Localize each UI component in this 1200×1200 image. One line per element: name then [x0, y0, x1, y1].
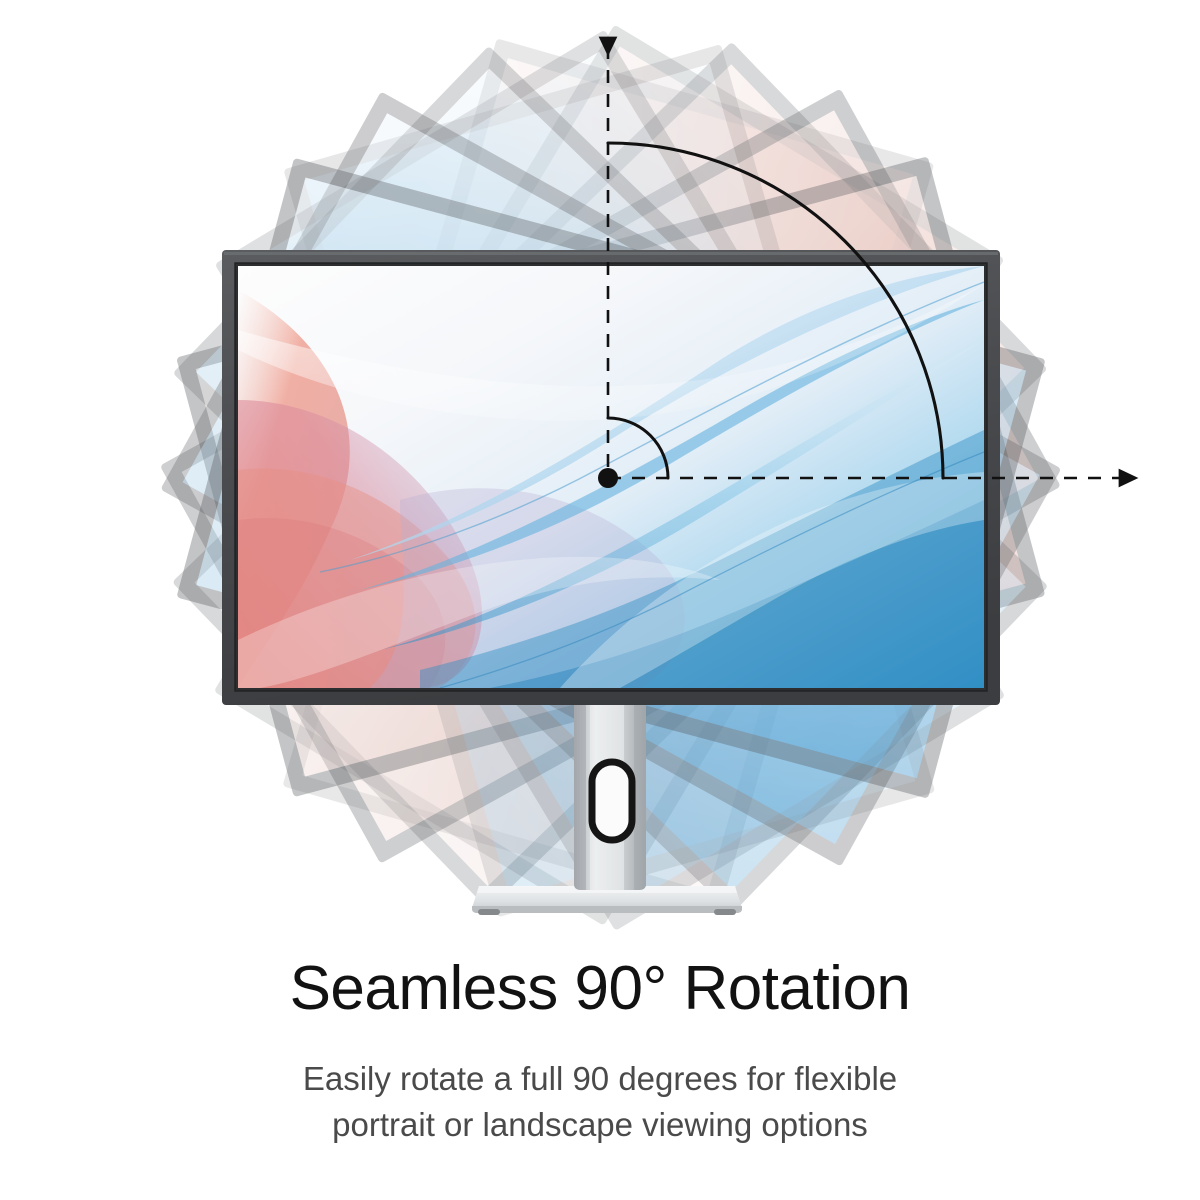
page-title: Seamless 90° Rotation — [0, 955, 1200, 1023]
cable-management-hole — [592, 762, 632, 840]
pivot-point — [598, 468, 618, 488]
subtitle-line-1: Easily rotate a full 90 degrees for flex… — [0, 1057, 1200, 1101]
product-feature-card: Seamless 90° Rotation Easily rotate a fu… — [0, 0, 1200, 1200]
stand-base — [472, 886, 742, 915]
subtitle-line-2: portrait or landscape viewing options — [0, 1103, 1200, 1147]
caption-block: Seamless 90° Rotation Easily rotate a fu… — [0, 955, 1200, 1146]
